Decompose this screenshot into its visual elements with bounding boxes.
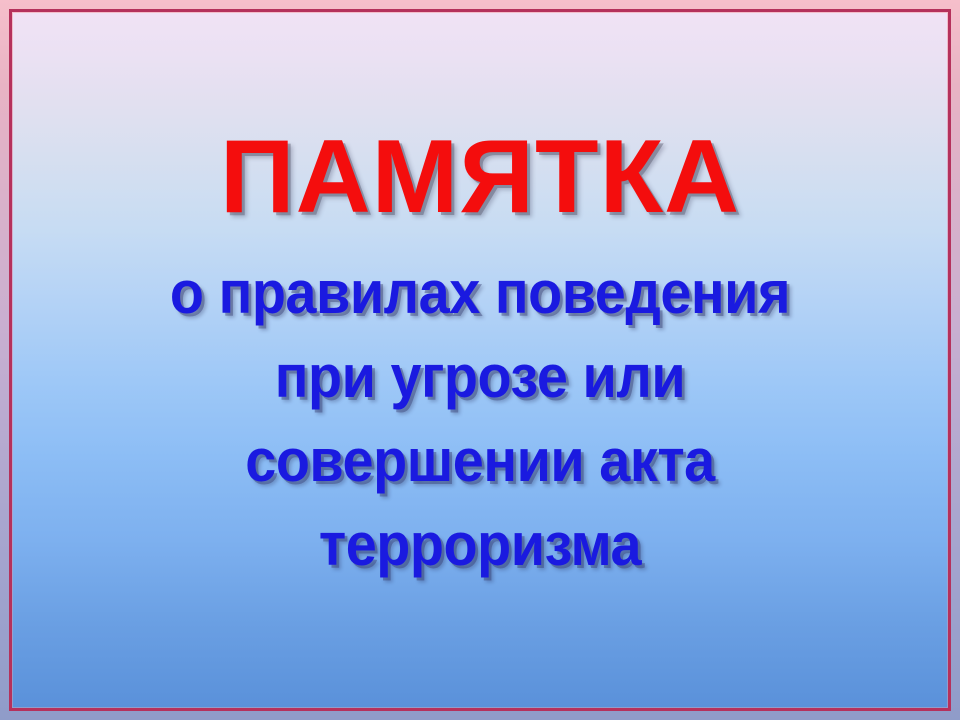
slide-content-area: ПАМЯТКА о правилах поведения при угрозе …	[13, 13, 947, 707]
subtitle-line-2: при угрозе или	[46, 335, 915, 419]
page-title: ПАМЯТКА	[220, 125, 740, 229]
subtitle-line-1: о правилах поведения	[46, 251, 915, 335]
subtitle-line-4: терроризма	[46, 503, 915, 587]
subtitle-line-3: совершении акта	[46, 419, 915, 503]
subtitle-block: о правилах поведения при угрозе или сове…	[13, 251, 947, 587]
slide: ПАМЯТКА о правилах поведения при угрозе …	[0, 0, 960, 720]
